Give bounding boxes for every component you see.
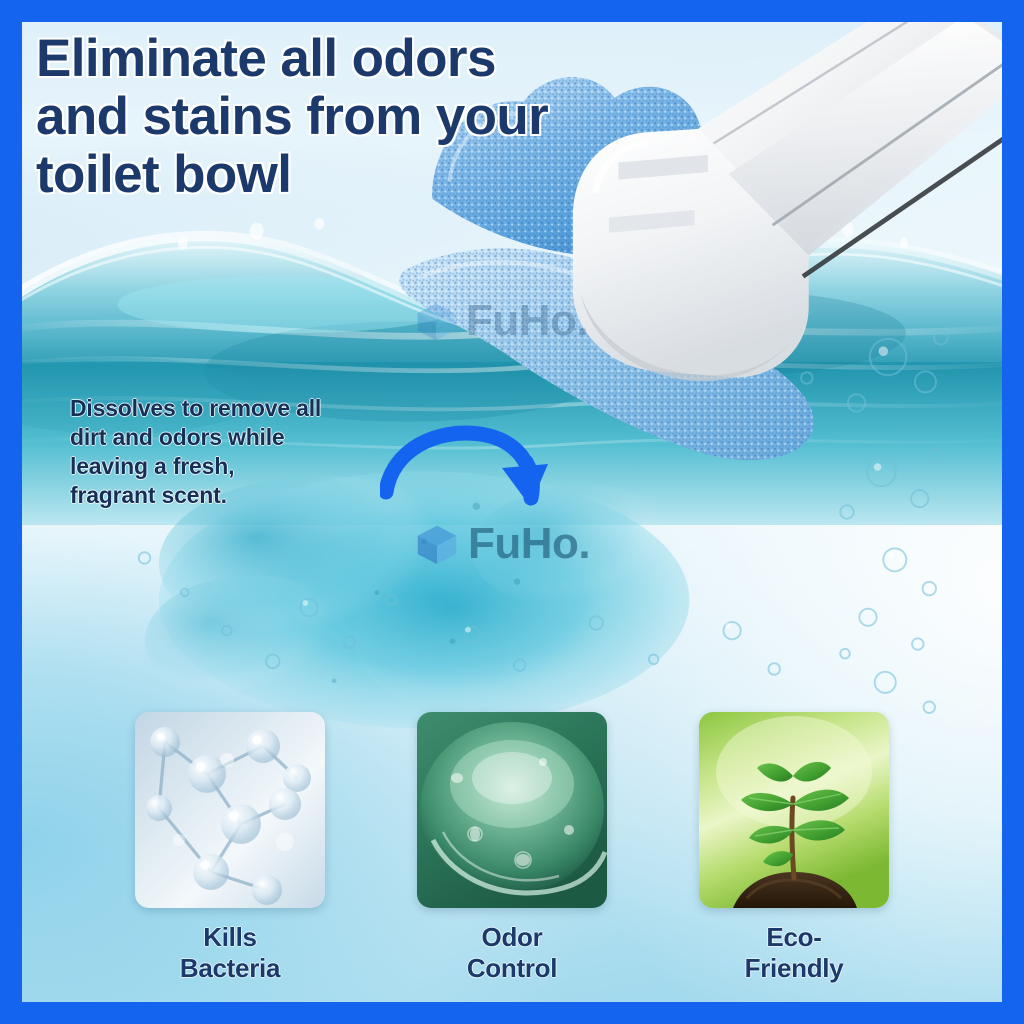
feature-odor-control: Odor Control (416, 712, 608, 984)
headline-line-2: and stains from your (36, 88, 696, 146)
feature-label: Odor Control (467, 922, 557, 984)
feature-eco-friendly: Eco- Friendly (698, 712, 890, 984)
headline: Eliminate all odors and stains from your… (36, 30, 696, 203)
green-seedling-sprout-image (699, 712, 889, 908)
feature-label: Kills Bacteria (180, 922, 280, 984)
headline-line-1: Eliminate all odors (36, 30, 696, 88)
subcopy-line-2: dirt and odors while (70, 423, 400, 452)
feature-list: Kills Bacteria (22, 712, 1002, 984)
ad-stage: FuHo. FuHo. FuHo. Eliminate all odors an… (22, 22, 1002, 1002)
product-ad-banner: FuHo. FuHo. FuHo. Eliminate all odors an… (0, 0, 1024, 1024)
feature-kills-bacteria: Kills Bacteria (134, 712, 326, 984)
subcopy: Dissolves to remove all dirt and odors w… (70, 394, 400, 510)
subcopy-line-3: leaving a fresh, (70, 452, 400, 481)
feature-label: Eco- Friendly (745, 922, 844, 984)
molecule-structure-image (135, 712, 325, 908)
subcopy-line-1: Dissolves to remove all (70, 394, 400, 423)
green-water-droplet-image (417, 712, 607, 908)
curved-arrow-icon (380, 420, 550, 520)
subcopy-line-4: fragrant scent. (70, 481, 400, 510)
headline-line-3: toilet bowl (36, 146, 696, 204)
